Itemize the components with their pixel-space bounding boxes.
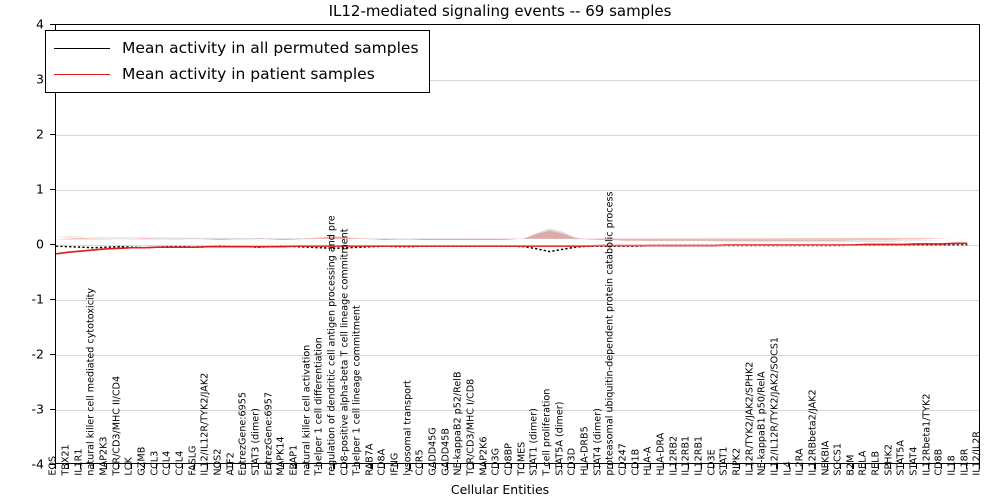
x-tick-label: CD3G [492,448,502,476]
x-tick-mark [561,464,562,469]
y-tick-mark [50,354,55,355]
x-tick-mark [182,464,183,469]
x-tick-label: NF-kappaB2 p52/RelB [454,372,464,476]
y-tick-label: 2 [36,127,44,142]
x-tick-label: IL12RB1 [694,436,704,476]
x-tick-label: T cell proliferation [542,389,552,476]
x-tick-mark [966,464,967,469]
x-tick-mark [447,464,448,469]
x-tick-label: IL12R/TYK2/JAK2/SPHK2 [745,362,755,476]
x-tick-mark [473,464,474,469]
legend-line-permuted [54,48,110,49]
x-tick-mark [511,464,512,469]
y-tick-label: 0 [36,237,44,252]
x-tick-mark [954,464,955,469]
x-tick-label: CD8A [378,449,388,476]
x-tick-label: IL1R1 [74,449,84,476]
x-tick-mark [93,464,94,469]
x-tick-label: EOS [49,456,59,476]
x-tick-label: NFKBIA [821,441,831,476]
x-tick-label: lysosomal transport [403,381,413,476]
x-tick-label: CCL4 [175,451,185,476]
x-tick-label: T-helper 1 cell lineage commitment [353,306,363,476]
x-tick-mark [207,464,208,469]
y-tick-label: 4 [36,17,44,32]
x-tick-mark [814,464,815,469]
x-tick-mark [751,464,752,469]
x-tick-label: NOS2 [213,449,223,476]
legend-entry: Mean activity in all permuted samples [54,35,419,61]
x-tick-mark [144,464,145,469]
x-tick-label: GADD45G [429,428,439,476]
x-tick-mark [587,464,588,469]
x-tick-label: SPHK2 [884,445,894,476]
y-tick-mark [50,244,55,245]
x-tick-mark [663,464,664,469]
x-tick-mark [409,464,410,469]
x-tick-label: EntrezGene:6955 [239,392,249,476]
x-tick-label: CD3E [707,450,717,476]
x-tick-mark [232,464,233,469]
x-tick-label: CD8-positive alpha-beta T cell lineage c… [340,229,350,476]
x-tick-mark [840,464,841,469]
y-tick-label: -1 [32,292,44,307]
x-tick-label: TOMES [517,442,527,476]
x-tick-mark [612,464,613,469]
legend-label-patient: Mean activity in patient samples [122,65,375,83]
y-tick-label: 3 [36,72,44,87]
x-tick-mark [776,464,777,469]
x-tick-label: RAB7A [365,444,375,476]
y-tick-mark [50,134,55,135]
x-tick-mark [637,464,638,469]
x-tick-mark [536,464,537,469]
x-tick-label: IL12RB1 [682,436,692,476]
x-tick-label: STAT1 (dimer) [530,409,540,476]
x-tick-label: GZMB [137,447,147,476]
y-tick-label: -2 [32,347,44,362]
x-tick-label: TCR/CD3/MHC II/CD4 [112,376,122,476]
x-tick-label: IFNG [391,453,401,476]
x-tick-mark [220,464,221,469]
x-tick-mark [852,464,853,469]
x-tick-label: proteasomal ubiquitin-dependent protein … [606,192,616,476]
x-tick-label: STAT4 (dimer) [593,409,603,476]
x-tick-mark [460,464,461,469]
x-tick-label: natural killer cell activation [302,345,312,476]
x-tick-label: HLA-DRA [656,433,666,476]
x-tick-label: IL12RB2 [669,436,679,476]
x-tick-label: CCL3 [150,451,160,476]
y-tick-mark [50,189,55,190]
x-tick-mark [295,464,296,469]
x-tick-mark [802,464,803,469]
x-tick-label: RELB [872,451,882,476]
x-tick-mark [498,464,499,469]
x-tick-label: HLA-DRB5 [580,427,590,476]
x-tick-label: CD3D [568,448,578,476]
y-tick-mark [50,464,55,465]
x-tick-mark [485,464,486,469]
x-tick-label: CD8BP [504,443,514,476]
x-tick-mark [68,464,69,469]
x-tick-mark [359,464,360,469]
x-tick-label: HLA-A [644,447,654,476]
x-tick-label: RELA [859,451,869,476]
x-tick-mark [713,464,714,469]
x-tick-label: T-helper 1 cell differentiation [315,338,325,476]
legend: Mean activity in all permuted samples Me… [45,30,430,93]
x-tick-mark [131,464,132,469]
x-tick-label: NF-kappaB1 p50/RelA [758,372,768,476]
x-tick-mark [903,464,904,469]
legend-entry: Mean activity in patient samples [54,61,419,87]
x-tick-label: SOCS1 [834,443,844,476]
x-tick-mark [726,464,727,469]
x-tick-mark [308,464,309,469]
y-tick-label: -4 [32,457,44,472]
x-tick-mark [789,464,790,469]
x-tick-mark [941,464,942,469]
x-tick-label: B2M [846,455,856,476]
x-tick-label: CD8B [935,449,945,476]
x-tick-mark [979,464,980,469]
x-tick-mark [739,464,740,469]
x-tick-label: STAT1 [720,447,730,476]
x-tick-label: STAT5A [897,440,907,476]
x-tick-label: IL12/IL12R/TYK2/JAK2 [201,373,211,476]
x-tick-mark [764,464,765,469]
x-tick-mark [384,464,385,469]
x-tick-label: IL12Rbeta1/TYK2 [922,394,932,476]
x-tick-mark [890,464,891,469]
x-tick-label: GADD45B [441,428,451,476]
x-tick-mark [688,464,689,469]
x-tick-label: RIPK2 [732,448,742,476]
x-tick-label: IL18R [960,449,970,476]
y-tick-mark [50,299,55,300]
x-tick-label: STAT5A (dimer) [555,402,565,476]
x-tick-label: STAT4 [910,447,920,476]
x-tick-label: IL12/IL2R [973,431,983,476]
x-tick-label: IL2RA [796,449,806,476]
x-tick-mark [549,464,550,469]
x-tick-mark [283,464,284,469]
legend-line-patient [54,74,110,75]
x-tick-label: TCR/CD3/MHC I/CD8 [467,379,477,476]
x-tick-label: CCL4 [163,451,173,476]
y-tick-label: -3 [32,402,44,417]
x-axis-label: Cellular Entities [0,482,1000,497]
x-tick-label: natural killer cell mediated cytotoxicit… [87,288,97,476]
x-tick-mark [118,464,119,469]
x-tick-label: CCR5 [416,450,426,476]
x-tick-label: TBX21 [61,445,71,476]
x-tick-mark [878,464,879,469]
x-tick-mark [397,464,398,469]
x-tick-mark [270,464,271,469]
x-tick-label: MAP2K6 [479,437,489,476]
x-tick-mark [701,464,702,469]
x-tick-mark [422,464,423,469]
x-tick-mark [865,464,866,469]
x-tick-mark [650,464,651,469]
x-tick-label: FASLG [188,446,198,476]
x-tick-label: STAT3 (dimer) [251,409,261,476]
x-tick-mark [55,464,56,469]
x-tick-mark [169,464,170,469]
x-tick-mark [371,464,372,469]
x-tick-mark [435,464,436,469]
x-tick-mark [245,464,246,469]
x-tick-mark [106,464,107,469]
x-tick-label: regulation of dendritic cell antigen pro… [327,216,337,476]
x-tick-label: ERAP1 [289,445,299,476]
x-tick-label: IL4 [783,462,793,476]
x-tick-mark [916,464,917,469]
legend-label-permuted: Mean activity in all permuted samples [122,39,419,57]
x-tick-mark [346,464,347,469]
x-tick-label: MAPK14 [277,437,287,476]
x-tick-mark [523,464,524,469]
chart-title: IL12-mediated signaling events -- 69 sam… [0,2,1000,20]
x-tick-label: CD1B [631,449,641,476]
x-tick-label: EntrezGene:6957 [264,392,274,476]
x-tick-mark [574,464,575,469]
x-tick-label: ATF2 [226,453,236,476]
figure-canvas: IL12-mediated signaling events -- 69 sam… [0,0,1000,500]
y-tick-mark [50,24,55,25]
x-tick-mark [675,464,676,469]
x-tick-label: IL18 [947,456,957,476]
x-tick-mark [599,464,600,469]
x-tick-label: LCK [125,458,135,476]
x-tick-label: IL12/IL12R/TYK2/JAK2/SOCS1 [770,337,780,476]
x-tick-mark [80,464,81,469]
x-tick-mark [827,464,828,469]
x-tick-label: MAP2K3 [99,437,109,476]
x-tick-mark [258,464,259,469]
x-tick-mark [625,464,626,469]
x-tick-label: CD247 [618,444,628,476]
x-tick-mark [928,464,929,469]
y-tick-mark [50,409,55,410]
y-tick-label: 1 [36,182,44,197]
x-tick-mark [194,464,195,469]
x-tick-mark [156,464,157,469]
x-tick-mark [321,464,322,469]
x-tick-label: IL12RBbeta2/JAK2 [808,390,818,476]
x-tick-mark [333,464,334,469]
